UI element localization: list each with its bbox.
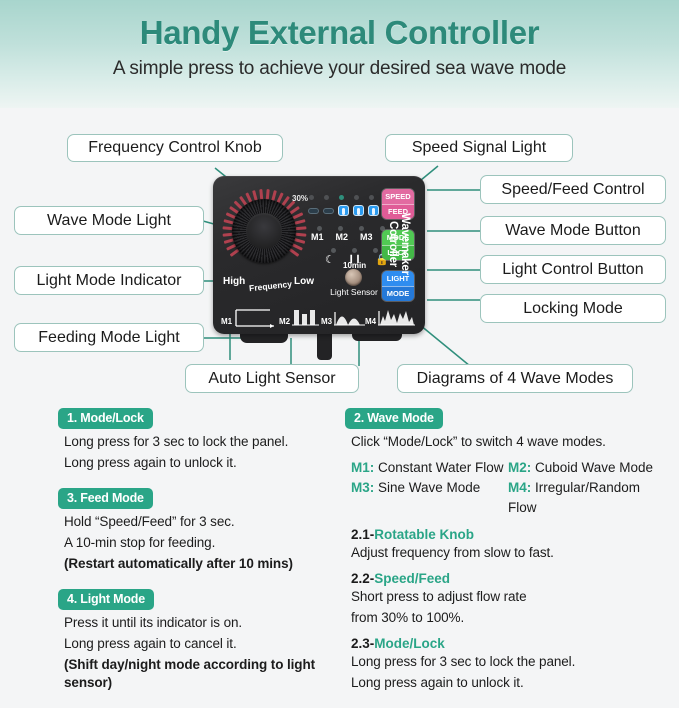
header-banner: Handy External Controller A simple press…: [0, 0, 679, 108]
wave-mode-dot: [359, 226, 364, 231]
spacer: [58, 475, 343, 488]
wave-diagram-m4-label: M4: [365, 317, 376, 326]
subsection-title: Rotatable Knob: [374, 527, 474, 542]
instruction-line: Adjust frequency from slow to fast.: [351, 544, 665, 562]
wave-mode-dot: [317, 226, 322, 231]
mode-status-dots: [331, 248, 381, 253]
speed-led-segment: [308, 208, 319, 214]
wave-mode-subsections: 2.1-Rotatable KnobAdjust frequency from …: [345, 527, 665, 692]
callout-label: Feeding Mode Light: [38, 329, 179, 347]
instructions-section: 1. Mode/LockLong press for 3 sec to lock…: [0, 408, 679, 679]
instruction-line: from 30% to 100%.: [351, 609, 665, 627]
speed-indicator-dot: [369, 195, 374, 200]
instruction-line: Hold “Speed/Feed” for 3 sec.: [64, 513, 343, 531]
wave-mode-label: M2: [335, 232, 348, 242]
wave-diagram-m2-label: M2: [279, 317, 290, 326]
callout-label: Speed/Feed Control: [501, 181, 644, 199]
callout-speed-feed-control[interactable]: Speed/Feed Control: [480, 175, 666, 204]
section-badge: 4. Light Mode: [58, 589, 154, 610]
wave-diagram-m3-label: M3: [321, 317, 332, 326]
wave-diagram-m1-label: M1: [221, 317, 232, 326]
wave-mode-intro: Click “Mode/Lock” to switch 4 wave modes…: [351, 433, 665, 451]
wave-mode-indicator-dots: [317, 226, 389, 231]
frequency-knob[interactable]: [232, 199, 296, 263]
callout-label: Auto Light Sensor: [208, 370, 335, 388]
knob-tick: [295, 233, 306, 237]
spacer: [58, 695, 343, 708]
callout-label: Wave Mode Light: [47, 212, 171, 230]
instruction-line: (Restart automatically after 10 mins): [64, 555, 343, 573]
page-title: Handy External Controller: [0, 0, 679, 52]
instruction-line: Long press for 3 sec to lock the panel.: [64, 433, 343, 451]
callout-label: Diagrams of 4 Wave Modes: [417, 370, 614, 388]
callout-auto-light-sensor[interactable]: Auto Light Sensor: [185, 364, 359, 393]
knob-tick: [293, 238, 304, 244]
instructions-column-left: 1. Mode/LockLong press for 3 sec to lock…: [58, 408, 343, 708]
feed-timer-icon: ❙❙10min: [343, 255, 366, 269]
infographic-page: Handy External Controller A simple press…: [0, 0, 679, 679]
speed-indicator-dot: [339, 195, 344, 200]
mode-status-dot: [352, 248, 357, 253]
instructions-column-right: 2. Wave Mode Click “Mode/Lock” to switch…: [345, 408, 665, 695]
callout-diagrams-of-4-wave-modes[interactable]: Diagrams of 4 Wave Modes: [397, 364, 633, 393]
wave-diagram-m1: M1: [221, 302, 279, 328]
section-badge: 3. Feed Mode: [58, 488, 153, 509]
callout-label: Locking Mode: [523, 300, 623, 318]
mode-status-dot: [331, 248, 336, 253]
callout-label: Wave Mode Button: [505, 222, 640, 240]
frequency-axis-label: Frequency: [249, 279, 293, 293]
wave-mode-item: M4: Irregular/Random Flow: [508, 478, 665, 518]
speed-indicator-dot: [354, 195, 359, 200]
wave-mode-item: M3: Sine Wave Mode: [351, 478, 508, 518]
frequency-high-label: High: [223, 276, 245, 287]
speed-led-segment: [368, 205, 379, 216]
speed-indicator-dots: [309, 195, 391, 201]
callout-locking-mode[interactable]: Locking Mode: [480, 294, 666, 323]
wave-mode-key: M1:: [351, 460, 378, 475]
wavemaker-controller-device: 30% 100% M1M2M3M4 ☾ ❙❙10min 🔒 Light Sens…: [213, 176, 425, 334]
wave-mode-key: M4:: [508, 480, 535, 495]
wave-mode-item: M1: Constant Water Flow: [351, 458, 508, 478]
light-sensor-label: Light Sensor: [323, 287, 385, 297]
wave-mode-row: M1: Constant Water FlowM2: Cuboid Wave M…: [351, 458, 665, 478]
speed-led-segment: [353, 205, 364, 216]
subsection-heading: 2.2-Speed/Feed: [351, 571, 665, 586]
wave-mode-dot: [338, 226, 343, 231]
callout-label: Light Mode Indicator: [37, 272, 182, 290]
percent-min-label: 30%: [292, 194, 308, 203]
section-badge-wave-mode: 2. Wave Mode: [345, 408, 443, 429]
wave-mode-item: M2: Cuboid Wave Mode: [508, 458, 665, 478]
instruction-line: Long press again to unlock it.: [64, 454, 343, 472]
wave-diagram-m3: M3: [321, 302, 365, 328]
subsection-title: Mode/Lock: [374, 636, 445, 651]
device-brand-label: Wavemaker Cotroller: [387, 189, 411, 299]
instruction-line: A 10-min stop for feeding.: [64, 534, 343, 552]
section-badge: 1. Mode/Lock: [58, 408, 153, 429]
callout-light-mode-indicator[interactable]: Light Mode Indicator: [14, 266, 204, 295]
light-sensor: [345, 269, 362, 286]
speed-led-segment: [338, 205, 349, 216]
instruction-line: Long press again to unlock it.: [351, 674, 665, 692]
speed-indicator-dot: [324, 195, 329, 200]
instruction-line: Press it until its indicator is on.: [64, 614, 343, 632]
instruction-line: (Shift day/night mode according to light…: [64, 656, 343, 692]
callout-label: Light Control Button: [502, 261, 643, 279]
device-cable: [317, 332, 332, 360]
wave-mode-key: M2:: [508, 460, 535, 475]
callout-wave-mode-light[interactable]: Wave Mode Light: [14, 206, 204, 235]
instruction-line: Short press to adjust flow rate: [351, 588, 665, 606]
wave-mode-row: M3: Sine Wave ModeM4: Irregular/Random F…: [351, 478, 665, 518]
subsection-heading: 2.1-Rotatable Knob: [351, 527, 665, 542]
knob-tick: [295, 226, 306, 230]
instruction-line: Long press again to cancel it.: [64, 635, 343, 653]
callout-light-control-button[interactable]: Light Control Button: [480, 255, 666, 284]
spacer: [58, 576, 343, 589]
callout-feeding-mode-light[interactable]: Feeding Mode Light: [14, 323, 204, 352]
subsection-title: Speed/Feed: [374, 571, 450, 586]
speed-indicator-dot: [309, 195, 314, 200]
mode-icon-row: ☾ ❙❙10min 🔒: [323, 255, 389, 269]
subsection-heading: 2.3-Mode/Lock: [351, 636, 665, 651]
wave-mode-list: M1: Constant Water FlowM2: Cuboid Wave M…: [351, 458, 665, 518]
mode-status-dot: [373, 248, 378, 253]
speed-led-segment: [323, 208, 334, 214]
callout-frequency-control-knob[interactable]: Frequency Control Knob: [67, 134, 283, 162]
instruction-line: Long press for 3 sec to lock the panel.: [351, 653, 665, 671]
wave-mode-key: M3:: [351, 480, 378, 495]
wave-diagram-m2: M2: [279, 302, 319, 328]
wave-mode-label: M3: [360, 232, 373, 242]
callout-label: Frequency Control Knob: [88, 139, 261, 157]
callout-speed-signal-light[interactable]: Speed Signal Light: [385, 134, 573, 162]
moon-icon: ☾: [325, 255, 335, 266]
wave-diagram-m4: M4: [365, 302, 417, 328]
wave-mode-label: M1: [311, 232, 324, 242]
page-subtitle: A simple press to achieve your desired s…: [0, 52, 679, 80]
callout-wave-mode-button[interactable]: Wave Mode Button: [480, 216, 666, 245]
callout-label: Speed Signal Light: [412, 139, 546, 157]
frequency-low-label: Low: [294, 276, 314, 287]
